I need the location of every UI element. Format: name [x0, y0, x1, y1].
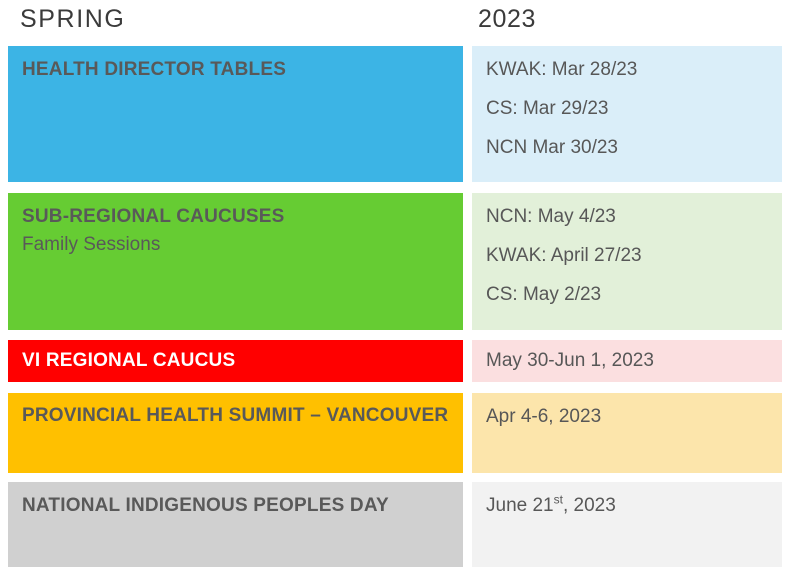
date-line: May 30-Jun 1, 2023 [486, 346, 768, 376]
date-text-after: , 2023 [563, 495, 616, 516]
date-text-before: June 21 [486, 495, 554, 516]
event-cell-health-director-tables: HEALTH DIRECTOR TABLES [8, 46, 463, 182]
header-season-label: SPRING [20, 2, 125, 36]
date-cell-provincial-health-summit: Apr 4-6, 2023 [472, 393, 782, 473]
event-title: NATIONAL INDIGENOUS PEOPLES DAY [22, 492, 449, 519]
date-line: CS: May 2/23 [486, 281, 768, 308]
event-title: PROVINCIAL HEALTH SUMMIT – VANCOUVER [22, 402, 449, 429]
date-line: KWAK: April 27/23 [486, 242, 768, 269]
event-cell-provincial-health-summit: PROVINCIAL HEALTH SUMMIT – VANCOUVER [8, 393, 463, 473]
date-line: June 21st, 2023 [486, 492, 768, 519]
header-year-label: 2023 [478, 2, 536, 36]
event-cell-national-indigenous-peoples-day: NATIONAL INDIGENOUS PEOPLES DAY [8, 482, 463, 567]
table-row: VI REGIONAL CAUCUS May 30-Jun 1, 2023 [0, 340, 795, 382]
table-row: HEALTH DIRECTOR TABLES KWAK: Mar 28/23 C… [0, 46, 795, 182]
event-subtitle: Family Sessions [22, 230, 449, 259]
event-title: SUB-REGIONAL CAUCUSES [22, 203, 449, 230]
table-row: SUB-REGIONAL CAUCUSES Family Sessions NC… [0, 193, 795, 330]
schedule-table: SPRING 2023 HEALTH DIRECTOR TABLES KWAK:… [0, 0, 795, 571]
date-line: CS: Mar 29/23 [486, 95, 768, 122]
event-title: VI REGIONAL CAUCUS [22, 346, 449, 376]
date-line: NCN: May 4/23 [486, 203, 768, 230]
date-ordinal-suffix: st [554, 493, 563, 507]
date-cell-health-director-tables: KWAK: Mar 28/23 CS: Mar 29/23 NCN Mar 30… [472, 46, 782, 182]
table-row: PROVINCIAL HEALTH SUMMIT – VANCOUVER Apr… [0, 393, 795, 473]
date-cell-vi-regional-caucus: May 30-Jun 1, 2023 [472, 340, 782, 382]
date-cell-national-indigenous-peoples-day: June 21st, 2023 [472, 482, 782, 567]
table-row: NATIONAL INDIGENOUS PEOPLES DAY June 21s… [0, 482, 795, 567]
event-title: HEALTH DIRECTOR TABLES [22, 56, 449, 83]
table-header-row: SPRING 2023 [0, 0, 795, 46]
date-line: Apr 4-6, 2023 [486, 403, 768, 430]
event-cell-sub-regional-caucuses: SUB-REGIONAL CAUCUSES Family Sessions [8, 193, 463, 330]
event-cell-vi-regional-caucus: VI REGIONAL CAUCUS [8, 340, 463, 382]
date-cell-sub-regional-caucuses: NCN: May 4/23 KWAK: April 27/23 CS: May … [472, 193, 782, 330]
date-line: NCN Mar 30/23 [486, 134, 768, 161]
date-line: KWAK: Mar 28/23 [486, 56, 768, 83]
